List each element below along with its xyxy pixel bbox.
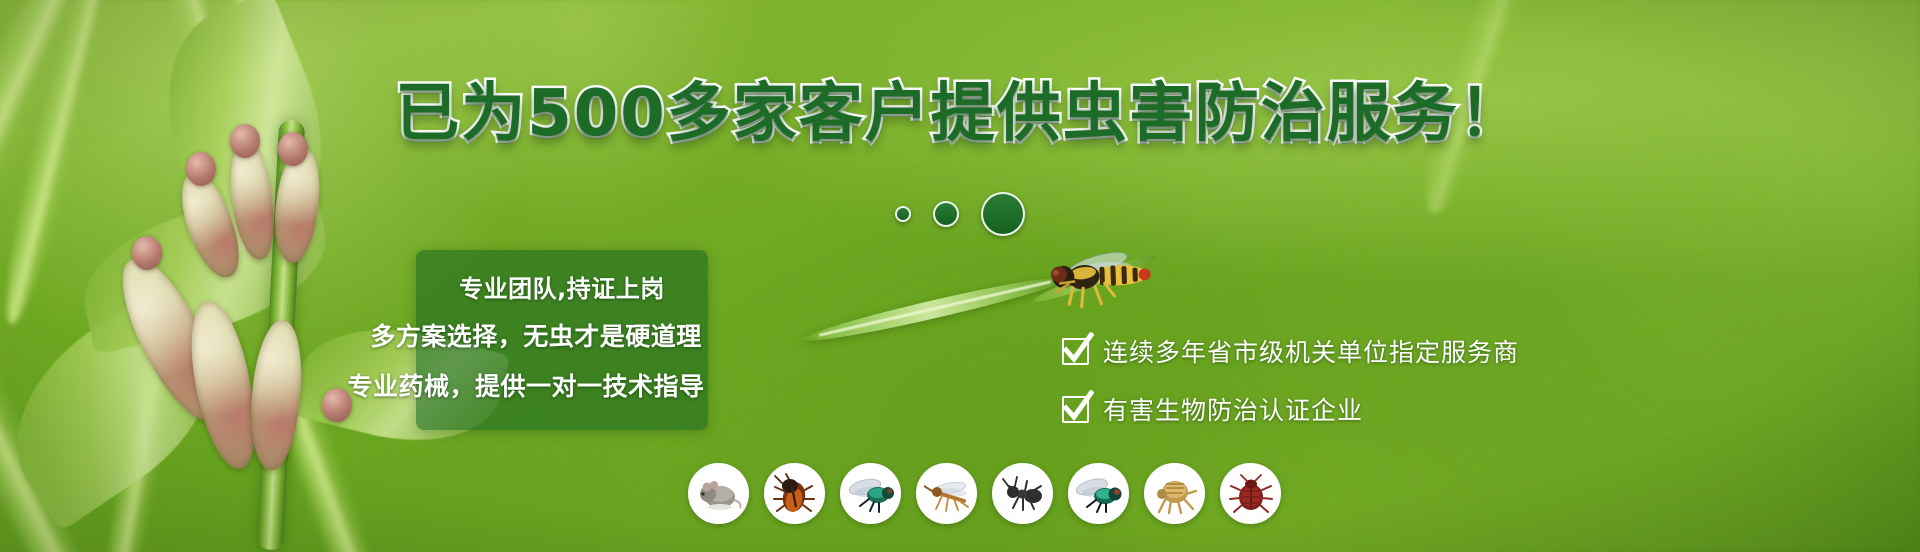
selling-point-line-1: 专业团队,持证上岗 [416, 266, 708, 312]
bedbug-icon[interactable] [1220, 463, 1281, 524]
credentials-list: 连续多年省市级机关单位指定服务商 有害生物防治认证企业 [1062, 333, 1519, 449]
pest-control-hero-banner: 已为500多家客户提供虫害防治服务！ 专业团队,持证上岗 多方案选择，无虫才是硬… [0, 0, 1920, 552]
cockroach-icon[interactable] [764, 463, 825, 524]
mosquito-icon[interactable] [916, 463, 977, 524]
mouse-icon[interactable] [688, 463, 749, 524]
seedhead-tip [132, 236, 162, 270]
list-item: 有害生物防治认证企业 [1062, 391, 1519, 427]
selling-points-panel: 专业团队,持证上岗 多方案选择，无虫才是硬道理 专业药械，提供一对一技术指导 [416, 250, 708, 430]
flea-icon[interactable] [1144, 463, 1205, 524]
fly-icon[interactable] [840, 463, 901, 524]
seedhead-tip [186, 152, 216, 186]
decorative-dot-row [0, 192, 1920, 236]
decorative-dot-large [981, 192, 1025, 236]
list-item: 连续多年省市级机关单位指定服务商 [1062, 333, 1519, 369]
checkbox-check-icon [1062, 396, 1089, 423]
decorative-dot-small [895, 206, 911, 222]
credential-label: 连续多年省市级机关单位指定服务商 [1103, 333, 1519, 369]
page-title: 已为500多家客户提供虫害防治服务！ [0, 82, 1920, 146]
ant-icon[interactable] [992, 463, 1053, 524]
selling-point-line-3: 专业药械，提供一对一技术指导 [344, 362, 708, 412]
headline-text: 已为500多家客户提供虫害防治服务！ [395, 82, 1525, 146]
decorative-dot-mid [933, 201, 959, 227]
blowfly-icon[interactable] [1068, 463, 1129, 524]
selling-point-line-2: 多方案选择，无虫才是硬道理 [364, 312, 708, 362]
checkbox-check-icon [1062, 338, 1089, 365]
pest-type-icon-strip [688, 463, 1281, 524]
credential-label: 有害生物防治认证企业 [1103, 391, 1363, 427]
